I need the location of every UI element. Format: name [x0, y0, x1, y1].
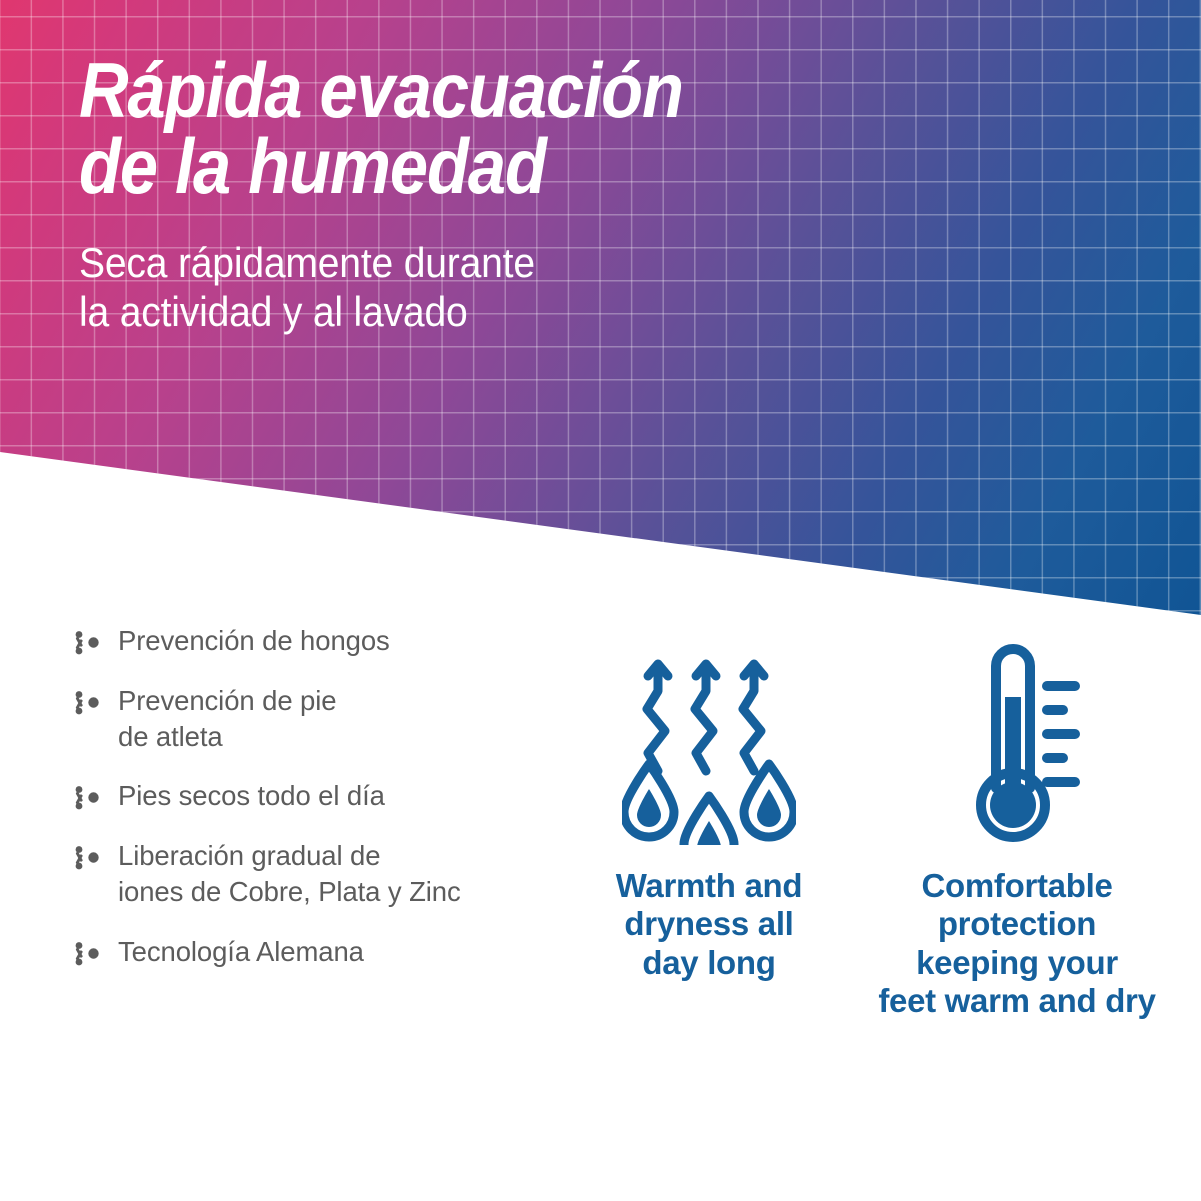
- list-item: Liberación gradual de iones de Cobre, Pl…: [72, 838, 572, 910]
- list-item: Prevención de pie de atleta: [72, 683, 572, 755]
- thermometer-icon: [951, 643, 1083, 845]
- benefit-card-comfort: Comfortable protection keeping your feet…: [846, 615, 1188, 1020]
- lower-section: Prevención de hongos Prevención de p: [0, 615, 1201, 1201]
- network-node-icon: [72, 628, 100, 658]
- card-figure: [846, 615, 1188, 845]
- page-subtitle: Seca rápidamente durante la actividad y …: [79, 205, 1085, 336]
- network-node-icon: [72, 843, 100, 873]
- list-item: Tecnología Alemana: [72, 934, 572, 970]
- benefit-cards: Warmth and dryness all day long: [560, 615, 1201, 1201]
- list-item-label: Tecnología Alemana: [118, 934, 364, 970]
- list-item-label: Prevención de hongos: [118, 623, 390, 659]
- list-item-label: Pies secos todo el día: [118, 778, 385, 814]
- network-node-icon: [72, 688, 100, 718]
- list-item: Pies secos todo el día: [72, 778, 572, 814]
- list-item-label: Prevención de pie de atleta: [118, 683, 336, 755]
- list-item: Prevención de hongos: [72, 623, 572, 659]
- network-node-icon: [72, 783, 100, 813]
- water-droplets-evaporation-icon: [622, 643, 796, 845]
- feature-list: Prevención de hongos Prevención de p: [72, 623, 572, 969]
- page-title: Rápida evacuación de la humedad: [79, 52, 1031, 205]
- network-node-icon: [72, 939, 100, 969]
- list-item-label: Liberación gradual de iones de Cobre, Pl…: [118, 838, 461, 910]
- poster: Rápida evacuación de la humedad Seca ráp…: [0, 0, 1201, 1201]
- card-caption: Warmth and dryness all day long: [574, 845, 844, 982]
- benefit-card-dryness: Warmth and dryness all day long: [574, 615, 844, 982]
- card-caption: Comfortable protection keeping your feet…: [846, 845, 1188, 1020]
- hero-text-block: Rápida evacuación de la humedad Seca ráp…: [79, 52, 1161, 336]
- card-figure: [574, 615, 844, 845]
